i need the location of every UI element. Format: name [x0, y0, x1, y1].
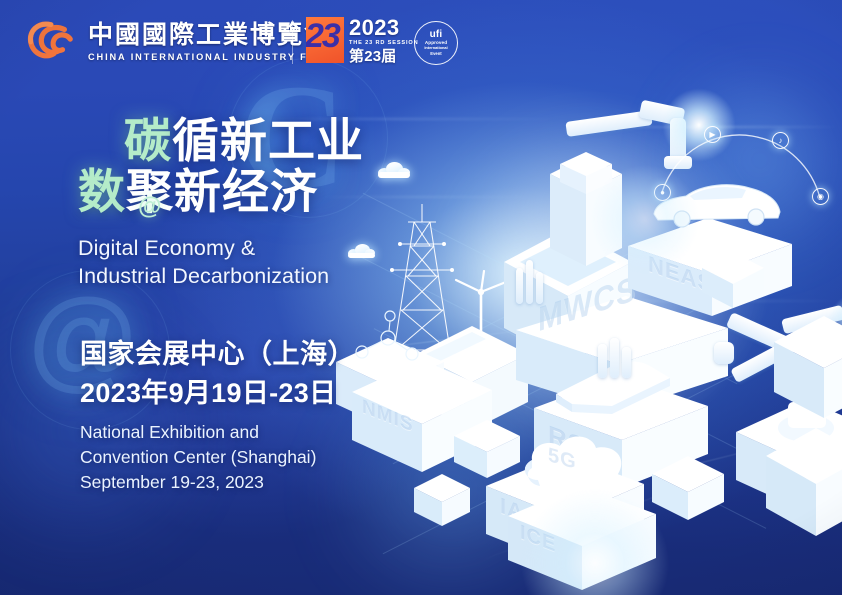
session-subtitle-cn: 第23届: [349, 49, 418, 64]
at-symbol-overlay: @: [138, 195, 162, 220]
ciif-logo-lockup[interactable]: 中國國際工業博覽會 CHINA INTERNATIONAL INDUSTRY F…: [22, 16, 331, 68]
ciif-title-cn: 中國國際工業博覽會: [88, 22, 331, 50]
small-cube: [648, 450, 728, 531]
small-cube: [410, 470, 474, 535]
ciif-2023-poster: C @ 中國國際工業博覽會 CHINA INTERNATIONAL: [0, 0, 842, 595]
headline-english-line2: Industrial Decarbonization: [78, 262, 408, 290]
top-bloom: [590, 164, 700, 274]
headline-accent-char-1: 碳: [124, 116, 172, 168]
session-number: 23: [306, 19, 339, 53]
session-year: 2023: [349, 17, 418, 39]
block-edge-right: [768, 308, 842, 433]
venue-name-cn: 国家会展中心（上海）: [80, 337, 355, 373]
headline-accent-char-2: 数: [78, 167, 126, 219]
ufi-line3: Event: [430, 51, 441, 56]
venue-block: 国家会展中心（上海） 2023年9月19日-23日 National Exhib…: [80, 337, 355, 495]
ufi-approved-badge[interactable]: ufi Approved International Event: [414, 21, 458, 65]
headline-english-line1: Digital Economy &: [78, 234, 408, 262]
masthead-divider: [292, 20, 293, 64]
wifi-icon: [628, 292, 678, 334]
headline-block: 碳循新工业 数聚新经济 @ Digital Economy & Industri…: [78, 118, 408, 291]
headline-line-1: 碳循新工业: [124, 118, 408, 167]
molecule-icon: [348, 308, 428, 368]
ufi-wordmark: ufi: [430, 30, 443, 40]
headline-rest-1: 循新工业: [172, 116, 364, 168]
volume-icon[interactable]: ♪: [772, 132, 789, 149]
session-subtitle-en: THE 23 RD SESSION: [349, 41, 418, 47]
block-edge-right-lower: [760, 418, 842, 549]
masthead: 中國國際工業博覽會 CHINA INTERNATIONAL INDUSTRY F…: [0, 0, 842, 86]
headline-line-2: 数聚新经济 @: [78, 169, 408, 218]
globe-icon[interactable]: ◉: [812, 188, 829, 205]
ciif-swirl-logo-icon: [22, 16, 78, 68]
venue-name-en-1: National Exhibition and: [80, 420, 355, 445]
session-number-tile: 23: [306, 17, 344, 63]
venue-name-en-2: Convention Center (Shanghai): [80, 445, 355, 470]
headline-english: Digital Economy & Industrial Decarboniza…: [78, 234, 408, 291]
session-badge: 23 2023 THE 23 RD SESSION 第23届: [306, 17, 418, 64]
venue-date-en: September 19-23, 2023: [80, 470, 355, 495]
play-icon[interactable]: ▶: [704, 126, 721, 143]
small-cube: [698, 248, 768, 319]
venue-date-cn: 2023年9月19日-23日: [80, 375, 355, 413]
ciif-title-en: CHINA INTERNATIONAL INDUSTRY FAIR: [88, 52, 331, 62]
